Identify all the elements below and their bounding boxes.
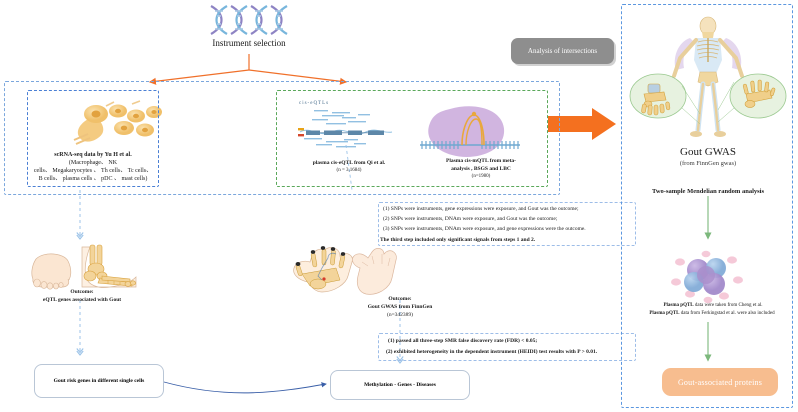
design-step-1: (1) SNPs were instruments, gene expressi… [383, 206, 635, 213]
pqtl-note-line2: Plasma pQTL data from Ferkingstad et al.… [624, 311, 798, 317]
analysis-of-intersections-node[interactable]: Analysis of intersections [511, 38, 614, 64]
cis-mqtl-title2: analysis , BSGS and LBC [420, 166, 542, 173]
hands-outcome-line2: Gout GWAS from FinnGen [340, 304, 460, 311]
methylation-result-box[interactable]: Methylation - Genes - Diseases [330, 370, 470, 400]
scrnaseq-line2: cells、 Megakaryocytes 、 Th cells、 Tc cel… [25, 168, 161, 176]
gwas-title: Gout GWAS [646, 146, 770, 160]
cis-mqtl-title: Plasma cis-mQTL from meta- [420, 158, 542, 165]
single-cell-result-label: Gout risk genes in different single cell… [54, 378, 145, 384]
pqtl-note-2-rest: data from Ferkingstad et al. were also i… [680, 311, 775, 316]
cis-eqtl-title: plasma cis-eQTL from Qi et al. [284, 160, 414, 167]
foot-outcome-line1: Outcome: [20, 289, 144, 296]
hands-outcome-line3: (n=342389) [340, 312, 460, 319]
gout-proteins-label: Gout-associated proteins [678, 378, 762, 387]
foot-outcome-line2: eQTL genes associated with Gout [14, 297, 150, 304]
design-step-note: The third step included only significant… [380, 237, 632, 244]
pqtl-note-2-emph: Plasma pQTL [649, 311, 679, 316]
gout-associated-proteins-box[interactable]: Gout-associated proteins [662, 368, 778, 396]
criteria-item-2: (2) exhibited heterogeneity in the depen… [386, 349, 636, 356]
analysis-node-label: Analysis of intersections [528, 47, 597, 55]
cis-eqtl-subtitle: (n = 3,1684) [284, 168, 414, 174]
scrnaseq-title: scRNA-seq data by Yu H et al. [29, 152, 157, 160]
design-step-3: (3) SNPs were instruments, DNAm were exp… [383, 226, 635, 233]
pqtl-note-line1: Plasma pQTL data were taken from Cheng e… [628, 303, 798, 309]
cis-mqtl-subtitle: (n=1980) [420, 174, 542, 180]
single-cell-result-box[interactable]: Gout risk genes in different single cell… [34, 364, 164, 398]
dna-icon [211, 6, 287, 34]
scrnaseq-line3: B cells、 plasma cells 、 pDC 、 mast cells… [25, 176, 161, 184]
design-step-2: (2) SNPs were instruments, DNAm were exp… [383, 216, 635, 223]
pqtl-note-1-emph: Plasma pQTL [663, 303, 693, 308]
hands-xray-icon [294, 246, 397, 294]
page-title: Instrument selection [189, 38, 309, 49]
pqtl-note-1-rest: data were taken from Cheng et al. [694, 303, 763, 308]
orange-split-arrows [150, 54, 346, 82]
gout-gwas-panel [621, 4, 793, 408]
gwas-subtitle: (from FinnGen gwas) [646, 160, 770, 168]
foot-xray-icon [32, 245, 136, 289]
hands-outcome-line1: Outcome: [340, 296, 460, 303]
diagram-canvas: Instrument selection Analysis of interse… [0, 0, 798, 412]
mr-analysis-label: Two-sample Mendelian random analysis [634, 188, 782, 196]
scrnaseq-line1: (Macrophage、 NK [29, 160, 157, 168]
cis-eqtl-icon-label: cis-eQTLs [299, 101, 329, 107]
methylation-result-label: Methylation - Genes - Diseases [364, 382, 436, 388]
criteria-item-1: (1) passed all three-step SMR false disc… [388, 338, 634, 345]
